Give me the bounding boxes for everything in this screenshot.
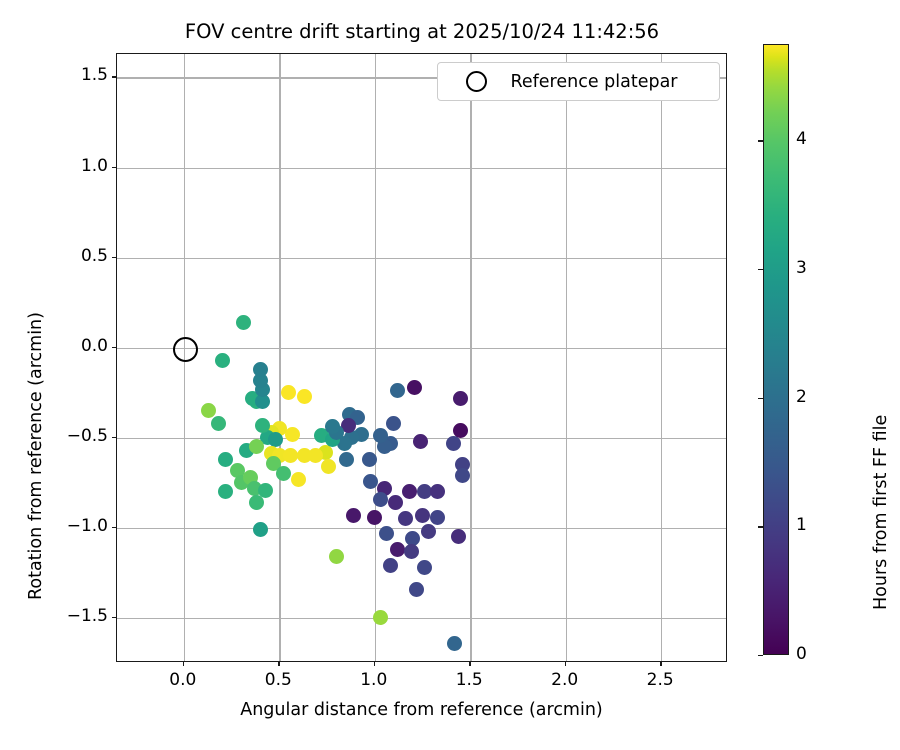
scatter-point [421, 524, 436, 539]
colorbar-tick [758, 398, 763, 399]
scatter-point [407, 380, 422, 395]
x-tick-label: 1.5 [439, 670, 499, 690]
scatter-point [430, 484, 445, 499]
page-title: FOV centre drift starting at 2025/10/24 … [116, 20, 728, 43]
scatter-point [218, 484, 233, 499]
chart-figure: FOV centre drift starting at 2025/10/24 … [0, 0, 900, 750]
scatter-point [253, 522, 268, 537]
colorbar-label: Hours from first FF file [871, 415, 891, 610]
y-gridline [117, 258, 726, 259]
colorbar-tick-label: 2 [796, 387, 807, 407]
y-tick-label: 1.0 [48, 156, 108, 176]
scatter-point [211, 416, 226, 431]
plot-area [116, 53, 727, 662]
scatter-point [386, 416, 401, 431]
y-tick-label: −1.5 [48, 606, 108, 626]
scatter-point [362, 452, 377, 467]
scatter-point [447, 636, 462, 651]
scatter-point [339, 452, 354, 467]
scatter-point [430, 510, 445, 525]
scatter-point [281, 385, 296, 400]
scatter-point [388, 495, 403, 510]
scatter-point [329, 549, 344, 564]
y-tick [112, 437, 116, 438]
scatter-point [409, 582, 424, 597]
scatter-point [285, 427, 300, 442]
legend-label: Reference platepar [487, 72, 701, 92]
colorbar: 01234 [763, 44, 789, 655]
scatter-point [390, 542, 405, 557]
scatter-point [215, 353, 230, 368]
scatter-point [383, 558, 398, 573]
x-tick-label: 1.0 [344, 670, 404, 690]
scatter-point [283, 448, 298, 463]
legend: Reference platepar [437, 62, 720, 101]
x-tick [374, 662, 375, 666]
y-tick [112, 167, 116, 168]
scatter-point [255, 418, 270, 433]
reference-platepar-marker-icon [466, 71, 487, 92]
scatter-point [236, 315, 251, 330]
x-gridline [661, 54, 662, 661]
y-tick [112, 76, 116, 77]
scatter-point [390, 383, 405, 398]
y-gridline [117, 348, 726, 349]
y-tick-label: −1.0 [48, 516, 108, 536]
x-tick [565, 662, 566, 666]
y-tick [112, 617, 116, 618]
x-gridline [375, 54, 376, 661]
colorbar-tick-label: 4 [796, 129, 807, 149]
scatter-point [402, 484, 417, 499]
scatter-point [398, 511, 413, 526]
scatter-point [415, 508, 430, 523]
x-tick-label: 2.5 [630, 670, 690, 690]
x-tick [660, 662, 661, 666]
colorbar-tick [758, 526, 763, 527]
scatter-point [291, 472, 306, 487]
x-tick-label: 0.0 [153, 670, 213, 690]
colorbar-tick [758, 140, 763, 141]
y-tick [112, 347, 116, 348]
y-tick-label: 0.0 [48, 336, 108, 356]
y-axis-label: Rotation from reference (arcmin) [26, 312, 46, 600]
y-gridline [117, 618, 726, 619]
scatter-point [297, 448, 312, 463]
scatter-point [321, 459, 336, 474]
scatter-point [297, 389, 312, 404]
scatter-point [417, 560, 432, 575]
x-tick [278, 662, 279, 666]
colorbar-gradient [763, 44, 789, 655]
scatter-point [373, 610, 388, 625]
x-gridline [279, 54, 280, 661]
x-axis-label: Angular distance from reference (arcmin) [116, 700, 727, 720]
scatter-point [373, 492, 388, 507]
x-gridline [566, 54, 567, 661]
scatter-point [446, 436, 461, 451]
scatter-point [404, 544, 419, 559]
x-tick-label: 0.5 [248, 670, 308, 690]
y-tick [112, 527, 116, 528]
scatter-point [453, 391, 468, 406]
scatter-point [258, 483, 273, 498]
y-tick-label: 1.5 [48, 65, 108, 85]
scatter-point [253, 362, 268, 377]
scatter-point [455, 468, 470, 483]
x-gridline [470, 54, 471, 661]
scatter-point [451, 529, 466, 544]
reference-platepar-point [173, 337, 198, 362]
scatter-point [249, 439, 264, 454]
colorbar-tick [758, 655, 763, 656]
y-tick [112, 257, 116, 258]
scatter-point [367, 510, 382, 525]
x-tick [469, 662, 470, 666]
scatter-point [268, 432, 283, 447]
y-tick-label: 0.5 [48, 246, 108, 266]
colorbar-tick [758, 269, 763, 270]
colorbar-tick-label: 0 [796, 644, 807, 664]
scatter-point [413, 434, 428, 449]
colorbar-tick-label: 3 [796, 258, 807, 278]
colorbar-tick-label: 1 [796, 515, 807, 535]
x-tick [183, 662, 184, 666]
scatter-point [379, 526, 394, 541]
scatter-point [276, 466, 291, 481]
y-gridline [117, 168, 726, 169]
x-tick-label: 2.0 [535, 670, 595, 690]
scatter-point [346, 508, 361, 523]
y-tick-label: −0.5 [48, 426, 108, 446]
